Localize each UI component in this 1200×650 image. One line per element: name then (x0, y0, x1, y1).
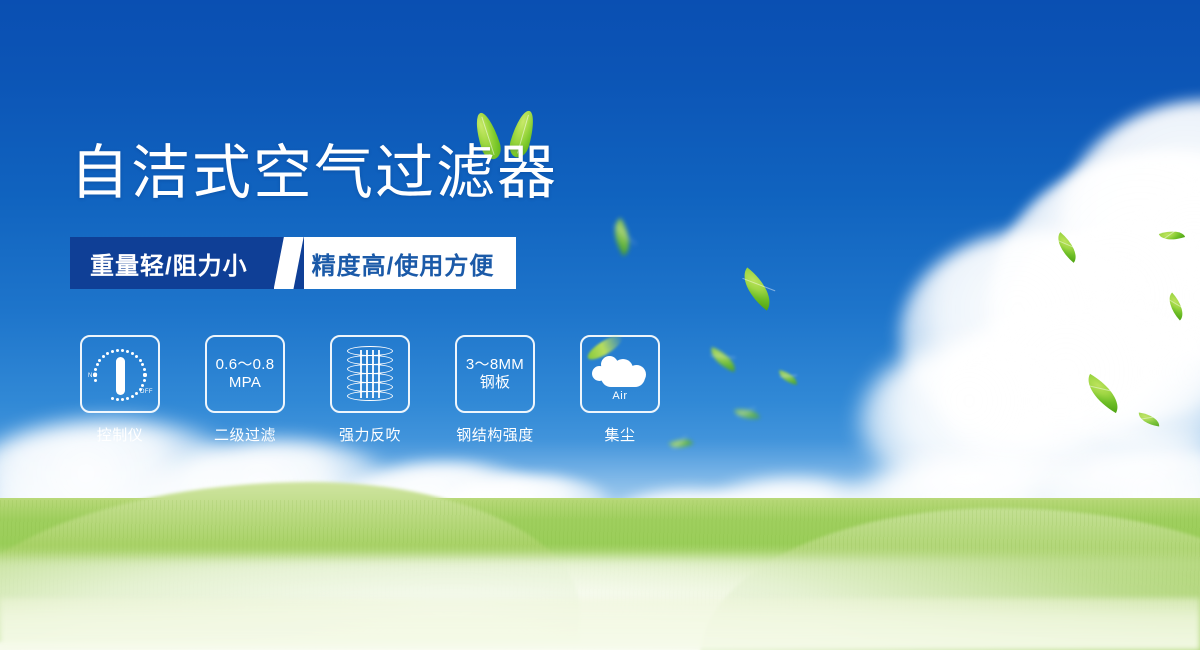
feature-label: 控制仪 (80, 424, 160, 445)
gauge-tick-dot (143, 373, 146, 376)
gauge-tick-dot (111, 397, 114, 400)
gauge-tick-dot (135, 355, 138, 358)
gauge-tick-dot (98, 359, 101, 362)
feature-item-steel-strength[interactable]: 3〜8MM 钢板 钢结构强度 (455, 335, 535, 445)
gauge-tick-dot (96, 363, 99, 366)
gauge-tick-dot (131, 352, 134, 355)
pressure-value-line1: 0.6〜0.8 (216, 356, 275, 374)
gauge-tick-dot (143, 368, 146, 371)
subtitle-right-text: 精度高/使用方便 (304, 237, 517, 289)
foreground-band (0, 598, 1200, 650)
pressure-unit-line2: MPA (229, 374, 261, 392)
gauge-tick-dot (126, 350, 129, 353)
gauge-tick-dot (102, 355, 105, 358)
gauge-tick-dot (141, 384, 144, 387)
gauge-tick-dot (94, 379, 97, 382)
gauge-tick-dot (116, 398, 119, 401)
gauge-needle (116, 357, 125, 395)
feature-item-two-stage-filter[interactable]: 0.6〜0.8 MPA 二级过滤 (205, 335, 285, 445)
gauge-tick-dot (139, 359, 142, 362)
steel-thickness-line1: 3〜8MM (466, 356, 524, 374)
gauge-tick-dot (111, 350, 114, 353)
feature-label: 二级过滤 (205, 424, 285, 445)
gauge-tick-dot (106, 352, 109, 355)
feature-icon-box (330, 335, 410, 413)
gauge-tick-dot (121, 398, 124, 401)
gauge-tick-dot (116, 349, 119, 352)
gauge-tick-dot (126, 397, 129, 400)
page-title: 自洁式空气过滤器 (70, 144, 558, 203)
coil-filter-icon (347, 346, 393, 402)
feature-label: 钢结构强度 (437, 424, 553, 445)
gauge-tick-dot (94, 368, 97, 371)
subtitle-divider-slash (274, 237, 304, 289)
gauge-tick-dot (131, 395, 134, 398)
feature-icon-box: Air (580, 335, 660, 413)
feature-icon-box: 3〜8MM 钢板 (455, 335, 535, 413)
feature-item-dust-collection[interactable]: Air 集尘 (580, 335, 660, 445)
subtitle-bar: 重量轻/阻力小 精度高/使用方便 (70, 237, 516, 289)
gauge-dial-icon: NO OFF (89, 345, 151, 403)
feature-item-powerful-blowback[interactable]: 强力反吹 (330, 335, 410, 445)
product-hero-banner: 自洁式空气过滤器 重量轻/阻力小 精度高/使用方便 NO OFF 控制仪 0.6… (0, 0, 1200, 650)
feature-list: NO OFF 控制仪 0.6〜0.8 MPA 二级过滤 (80, 335, 660, 445)
gauge-tick-dot (121, 349, 124, 352)
feature-icon-box: 0.6〜0.8 MPA (205, 335, 285, 413)
feature-icon-box: NO OFF (80, 335, 160, 413)
air-cloud-icon: Air (591, 349, 649, 399)
feature-label: 集尘 (580, 424, 660, 445)
gauge-tick-dot (141, 363, 144, 366)
air-label: Air (591, 390, 649, 402)
feature-item-control-gauge[interactable]: NO OFF 控制仪 (80, 335, 160, 445)
gauge-tick-dot (135, 392, 138, 395)
feature-label: 强力反吹 (330, 424, 410, 445)
subtitle-left-text: 重量轻/阻力小 (70, 237, 274, 289)
steel-material-line2: 钢板 (480, 374, 511, 392)
gauge-tick-dot (93, 373, 96, 376)
gauge-tick-dot (143, 379, 146, 382)
